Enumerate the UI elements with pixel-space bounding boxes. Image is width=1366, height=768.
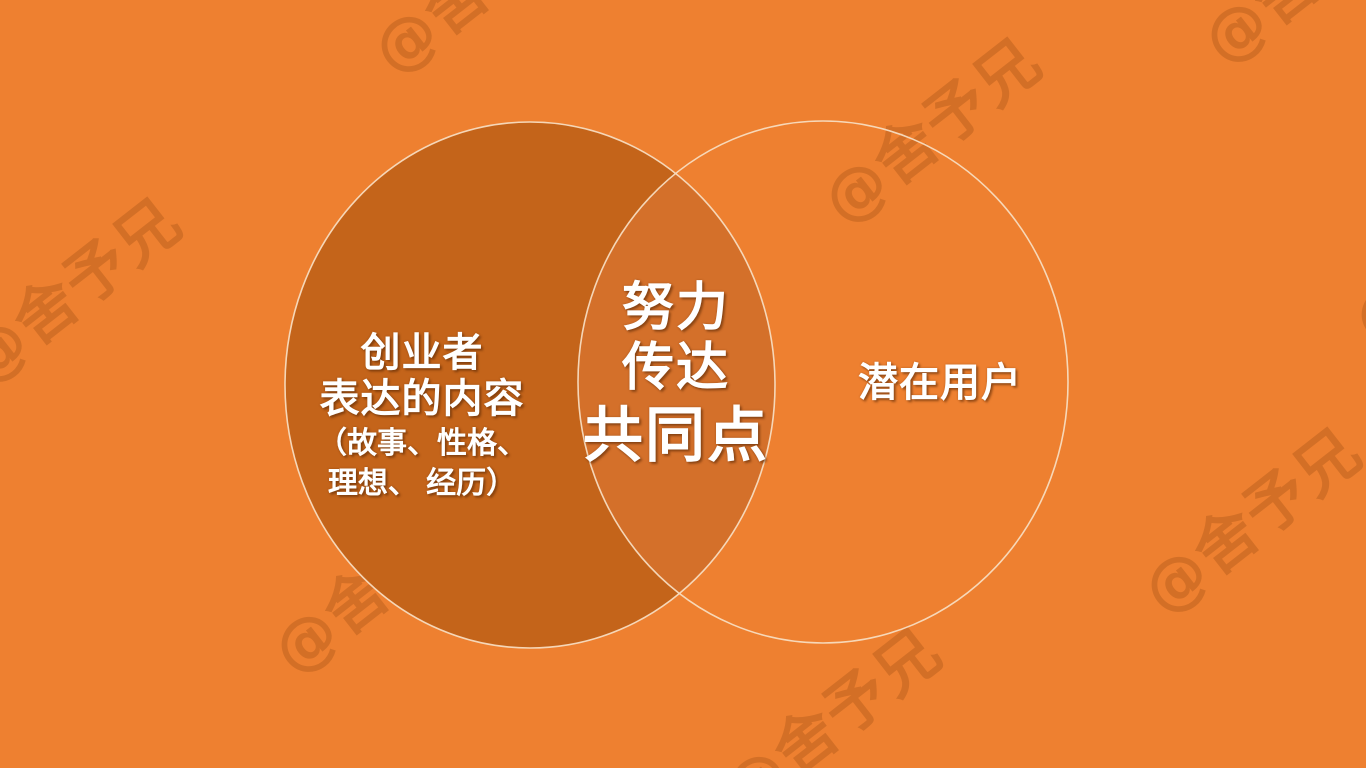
venn-right-label: 潜在用户 [810, 360, 1070, 406]
right-label-line-1: 潜在用户 [810, 360, 1070, 406]
left-label-sub-1: （故事、性格、 [286, 425, 558, 463]
left-label-sub-2: 理想、 经历） [286, 465, 558, 503]
label-layer: 创业者 表达的内容 （故事、性格、 理想、 经历） 努力 传达 共同点 潜在用户 [0, 0, 1366, 768]
left-label-line-1: 创业者 [286, 330, 558, 376]
venn-intersection-label: 努力 传达 共同点 [560, 278, 792, 470]
center-label-line-1: 努力 [560, 278, 792, 338]
left-label-line-2: 表达的内容 [286, 376, 558, 422]
center-label-line-3: 共同点 [560, 401, 792, 471]
slide-canvas: @舍予兄@舍予兄@舍予兄@舍予兄@舍予兄@舍予兄@舍予兄@舍予兄@舍予兄 创业者… [0, 0, 1366, 768]
center-label-line-2: 传达 [560, 338, 792, 398]
venn-left-label: 创业者 表达的内容 （故事、性格、 理想、 经历） [286, 330, 558, 502]
